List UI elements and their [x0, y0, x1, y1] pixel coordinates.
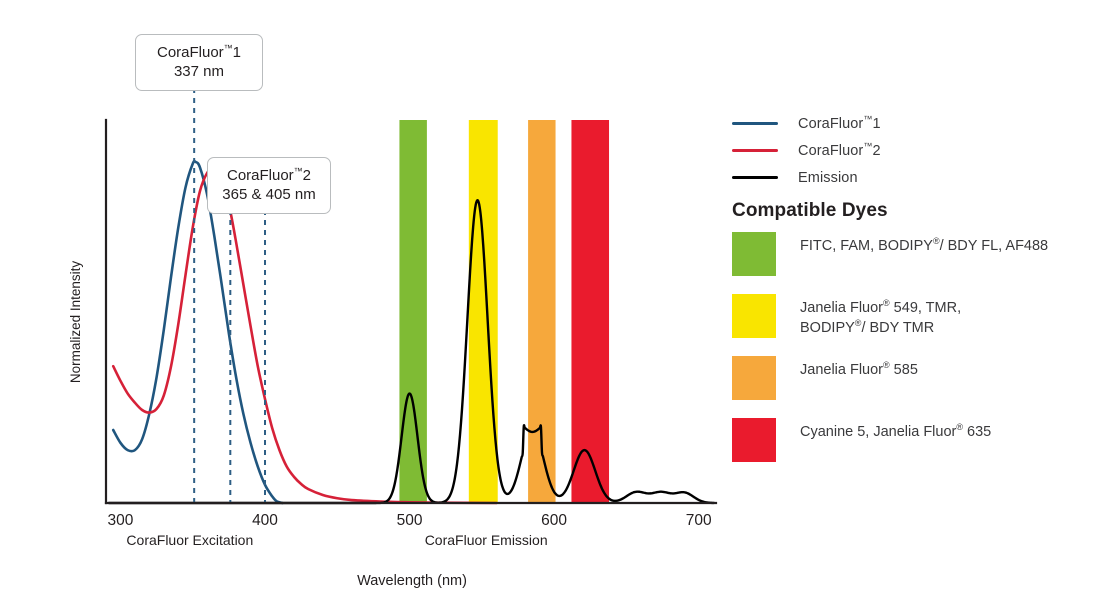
x-tick-label-600: 600: [541, 512, 567, 529]
legend-item-label: CoraFluor™2: [798, 143, 881, 159]
dye-row-4: Cyanine 5, Janelia Fluor® 635: [732, 418, 1108, 462]
x-tick-label-300: 300: [108, 512, 134, 529]
spectra-chart: 300400500600700CoraFluor ExcitationCoraF…: [0, 0, 720, 612]
dye-label: FITC, FAM, BODIPY®/ BDY FL, AF488: [800, 232, 1048, 257]
series-curve-corafluor2: [113, 169, 496, 503]
dye-label: Cyanine 5, Janelia Fluor® 635: [800, 418, 991, 443]
callout-1-line2: 337 nm: [148, 62, 250, 81]
compatible-dyes-title: Compatible Dyes: [732, 200, 888, 222]
callout-2-line1: CoraFluor™2: [220, 166, 318, 185]
dye-row-3: Janelia Fluor® 585: [732, 356, 1108, 400]
right-panel: CoraFluor™1CoraFluor™2Emission Compatibl…: [728, 0, 1110, 612]
compatible-dyes-list: FITC, FAM, BODIPY®/ BDY FL, AF488Janelia…: [732, 232, 1108, 480]
x-tick-label-500: 500: [397, 512, 423, 529]
emission-band-red: [571, 120, 609, 503]
dye-label: Janelia Fluor® 585: [800, 356, 918, 381]
dye-row-1: FITC, FAM, BODIPY®/ BDY FL, AF488: [732, 232, 1108, 276]
x-tick-label-700: 700: [686, 512, 712, 529]
legend-item-1: CoraFluor™1: [732, 110, 1104, 137]
callout-corafluor-1: CoraFluor™1 337 nm: [135, 34, 263, 91]
emission-band-yellow: [469, 120, 498, 503]
dye-color-swatch: [732, 232, 776, 276]
dye-color-swatch: [732, 294, 776, 338]
axis-group-label-emission: CoraFluor Emission: [425, 532, 548, 548]
legend-item-3: Emission: [732, 164, 1104, 191]
legend-line-swatch: [732, 149, 778, 152]
legend-line-swatch: [732, 176, 778, 179]
chart-legend: CoraFluor™1CoraFluor™2Emission: [732, 110, 1104, 191]
dye-color-swatch: [732, 418, 776, 462]
emission-band-green: [399, 120, 426, 503]
x-axis-title: Wavelength (nm): [357, 573, 467, 589]
dye-label: Janelia Fluor® 549, TMR,BODIPY®/ BDY TMR: [800, 294, 961, 338]
legend-item-label: Emission: [798, 170, 858, 186]
x-tick-label-400: 400: [252, 512, 278, 529]
dye-color-swatch: [732, 356, 776, 400]
callout-1-line1: CoraFluor™1: [148, 43, 250, 62]
dye-row-2: Janelia Fluor® 549, TMR,BODIPY®/ BDY TMR: [732, 294, 1108, 338]
legend-item-label: CoraFluor™1: [798, 116, 881, 132]
legend-item-2: CoraFluor™2: [732, 137, 1104, 164]
legend-line-swatch: [732, 122, 778, 125]
y-axis-title: Normalized Intensity: [68, 261, 83, 384]
axis-group-label-excitation: CoraFluor Excitation: [126, 532, 253, 548]
callout-2-line2: 365 & 405 nm: [220, 185, 318, 204]
callout-corafluor-2: CoraFluor™2 365 & 405 nm: [207, 157, 331, 214]
chart-canvas: 300400500600700CoraFluor ExcitationCoraF…: [0, 0, 720, 612]
